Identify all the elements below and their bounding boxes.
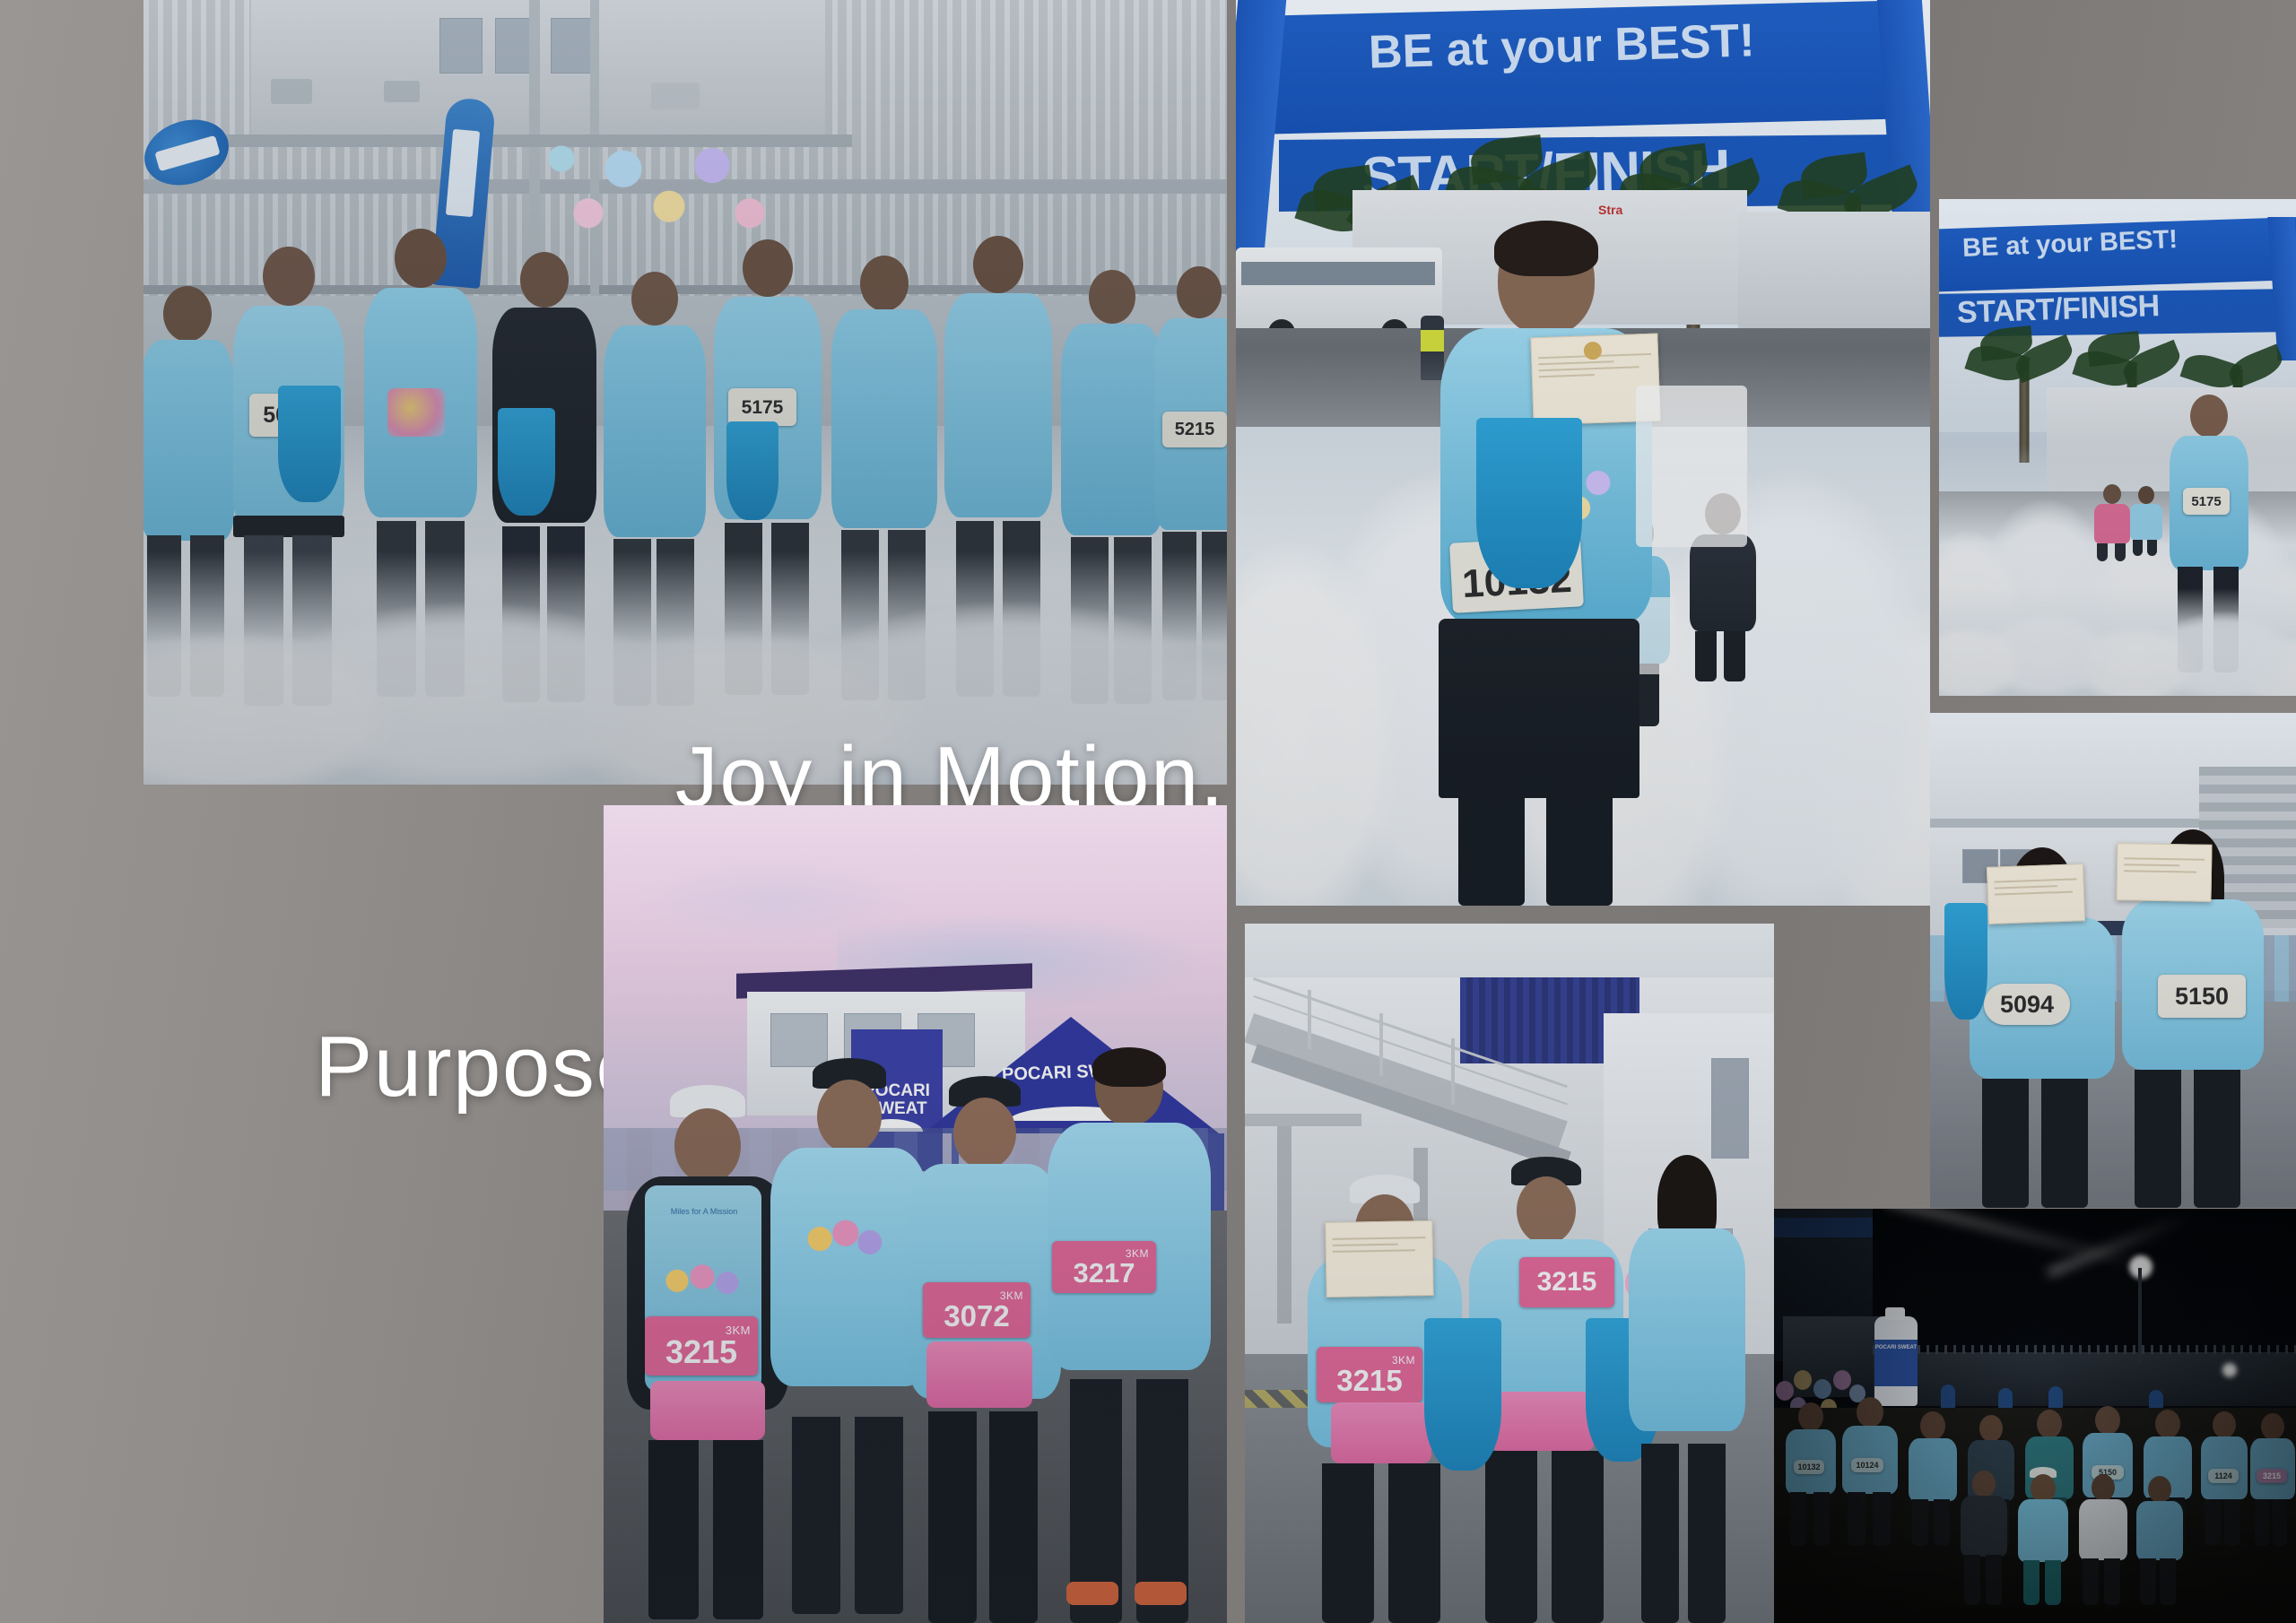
giveaway-bag xyxy=(278,386,341,502)
light-pole xyxy=(2138,1268,2142,1365)
certificate xyxy=(2116,843,2212,902)
photo-right-two-women-with-certificates: 5094 5150 xyxy=(1930,713,2296,1208)
race-bib: 3KM 3072 xyxy=(923,1282,1031,1338)
race-bib: 3215 xyxy=(1519,1257,1614,1307)
bib-number: 10124 xyxy=(1856,1462,1878,1470)
window xyxy=(1711,1058,1749,1159)
cloud xyxy=(631,859,918,945)
pink-waist-bag xyxy=(1491,1392,1595,1451)
runner xyxy=(1957,1471,2011,1605)
race-bib: 5175 xyxy=(728,388,796,426)
photo-center-runner-with-certificate: BE at your BEST! START/FINISH xyxy=(1236,0,1930,906)
race-bib: 3KM 3215 xyxy=(1317,1347,1422,1402)
bib-number: 3215 xyxy=(1537,1269,1597,1296)
pocari-bottle-label: POCARI SWEAT xyxy=(1874,1345,1918,1351)
pink-waist-bag xyxy=(926,1341,1032,1408)
sponsor-label-strava: Stra xyxy=(1598,203,1622,217)
runner xyxy=(2133,1476,2187,1605)
giveaway-bag xyxy=(1944,903,1987,1020)
vest-tagline: Miles for A Mission xyxy=(657,1207,751,1216)
runner-with-bib-5094: 5094 xyxy=(1957,849,2127,1208)
photo-bottom-left-sunset-group: POCARI SWEAT POCARI SWEAT POCARI SWEAT M… xyxy=(604,805,1227,1623)
pink-waist-bag xyxy=(650,1381,765,1440)
race-bib: 5150 xyxy=(2158,975,2246,1018)
team-front-row xyxy=(1774,1471,2296,1605)
race-bib: 5175 xyxy=(2183,488,2230,515)
street-lamp xyxy=(2222,1363,2237,1377)
background-building xyxy=(1738,212,1930,328)
certificate xyxy=(1325,1220,1433,1298)
runner xyxy=(2014,1471,2072,1605)
race-bib: 5215 xyxy=(1162,412,1227,447)
bib-number: 5175 xyxy=(2191,495,2221,508)
certificate xyxy=(1987,864,2085,924)
runner-with-bib-5150: 5150 xyxy=(2108,831,2278,1208)
runner xyxy=(2075,1474,2131,1605)
bib-number: 3215 xyxy=(1336,1366,1402,1395)
stair-post xyxy=(1308,990,1311,1049)
runner xyxy=(1620,1157,1754,1623)
wall-fence xyxy=(1873,1345,2296,1354)
stair-post xyxy=(1379,1013,1383,1076)
stair-post xyxy=(1451,1038,1455,1105)
bib-number: 3217 xyxy=(1074,1259,1135,1287)
giveaway-bag xyxy=(1476,418,1582,588)
race-bib: 3KM 3217 xyxy=(1052,1241,1156,1293)
bib-number: 5215 xyxy=(1175,421,1215,438)
runner xyxy=(2127,486,2165,556)
race-bib: 5094 xyxy=(1984,984,2070,1025)
bib-number: 3072 xyxy=(944,1301,1009,1331)
giveaway-bag xyxy=(498,408,555,516)
bus-window-strip xyxy=(1241,262,1435,285)
photo-right-arch-foam: BE at your BEST! START/FINISH Stra xyxy=(1939,199,2296,696)
stair-landing xyxy=(1245,1114,1361,1126)
collage-canvas: 5084 xyxy=(0,0,2296,1623)
bib-number: 5150 xyxy=(2175,985,2229,1009)
giveaway-bag xyxy=(1424,1318,1501,1471)
stair-column xyxy=(1277,1126,1291,1324)
runner-hair xyxy=(1494,221,1598,276)
perimeter-wall xyxy=(1873,1352,2296,1406)
pocari-inflatable-bottle xyxy=(1874,1316,1918,1406)
photo-bottom-center-certificate-pair: 3KM 3215 3215 xyxy=(1245,924,1774,1623)
pink-waist-bag xyxy=(1331,1402,1431,1463)
runner-shorts xyxy=(1439,619,1639,798)
foam-foreground xyxy=(1939,588,2296,696)
vest-run-logo xyxy=(659,1261,749,1311)
vest-run-logo xyxy=(801,1216,887,1273)
pocari-bottle-cap xyxy=(1885,1307,1905,1320)
photo-bottom-right-night-team: POCARI SWEAT 10132 xyxy=(1774,1209,2296,1623)
runner-with-bib-3217: 3KM 3217 xyxy=(1039,1049,1219,1623)
giveaway-bag xyxy=(726,421,778,520)
certificate-seal xyxy=(1584,342,1603,360)
race-bib: 3KM 3215 xyxy=(645,1316,758,1376)
bib-number: 3215 xyxy=(665,1336,737,1368)
giveaway-packet xyxy=(1636,386,1747,547)
bib-number: 5175 xyxy=(742,398,784,417)
night-building-band xyxy=(1774,1218,1873,1237)
runner-hair xyxy=(1092,1047,1166,1087)
bib-number: 5094 xyxy=(2000,993,2054,1017)
